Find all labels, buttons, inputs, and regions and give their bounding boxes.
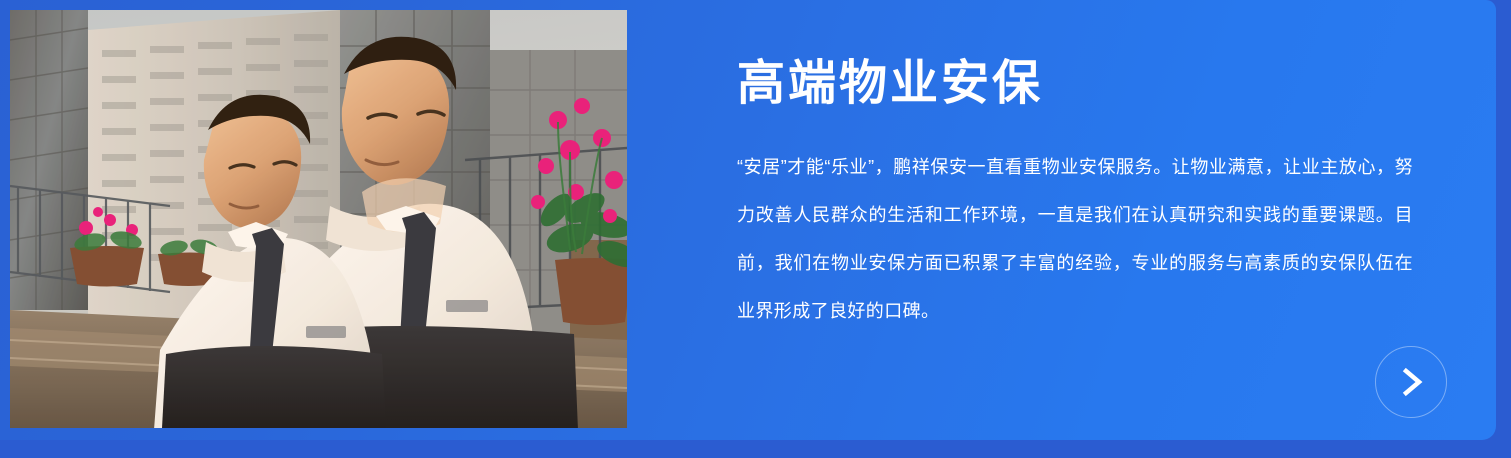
chevron-right-icon	[1396, 367, 1426, 397]
banner-photo	[10, 10, 627, 428]
banner-content: 高端物业安保 “安居”才能“乐业”，鹏祥保安一直看重物业安保服务。让物业满意，让…	[737, 0, 1413, 440]
banner-description: “安居”才能“乐业”，鹏祥保安一直看重物业安保服务。让物业满意，让业主放心，努力…	[737, 143, 1413, 335]
next-slide-button[interactable]	[1375, 346, 1447, 418]
page-title: 高端物业安保	[737, 56, 1043, 111]
banner-card: 高端物业安保 “安居”才能“乐业”，鹏祥保安一直看重物业安保服务。让物业满意，让…	[0, 0, 1496, 440]
property-security-banner: 高端物业安保 “安居”才能“乐业”，鹏祥保安一直看重物业安保服务。让物业满意，让…	[0, 0, 1511, 458]
security-guards-photo	[10, 10, 627, 428]
